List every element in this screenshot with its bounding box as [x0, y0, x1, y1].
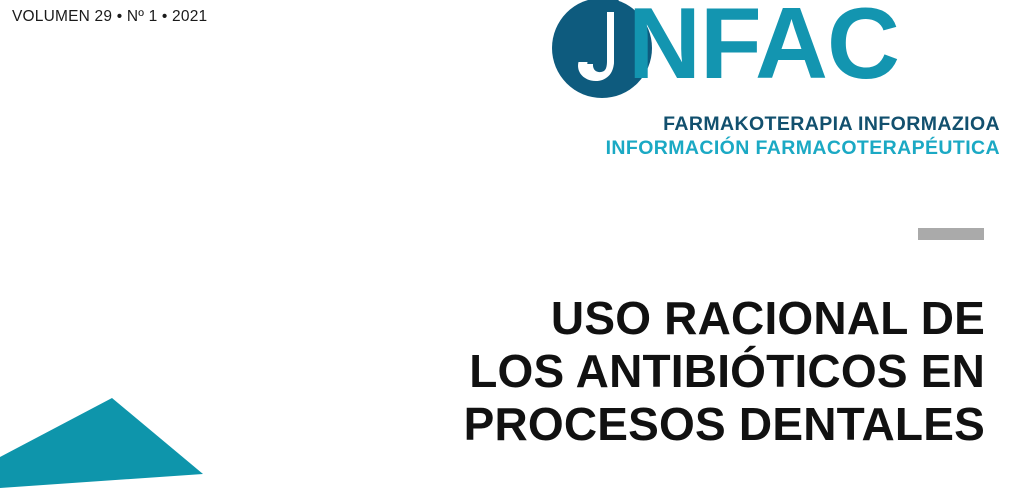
- cover-title-line-1: USO RACIONAL DE: [345, 292, 985, 345]
- infac-wordmark: NFAC: [628, 0, 899, 95]
- volume-issue-line: VOLUMEN 29 • Nº 1 • 2021: [12, 8, 207, 26]
- cover-title-line-3: PROCESOS DENTALES: [345, 398, 985, 451]
- cover-title: USO RACIONAL DE LOS ANTIBIÓTICOS EN PROC…: [345, 292, 985, 451]
- masthead-subtitle-basque: FARMAKOTERAPIA INFORMAZIOA: [540, 113, 1000, 136]
- masthead-subtitle-spanish: INFORMACIÓN FARMACOTERAPÉUTICA: [540, 137, 1000, 160]
- cover-title-line-2: LOS ANTIBIÓTICOS EN: [345, 345, 985, 398]
- title-divider-rule: [918, 228, 984, 240]
- infac-masthead: NFAC FARMAKOTERAPIA INFORMAZIOA INFORMAC…: [540, 0, 1000, 172]
- teal-decorative-shape: [0, 390, 215, 488]
- document-page: VOLUMEN 29 • Nº 1 • 2021 NFAC FARMAKOTER…: [0, 0, 1017, 488]
